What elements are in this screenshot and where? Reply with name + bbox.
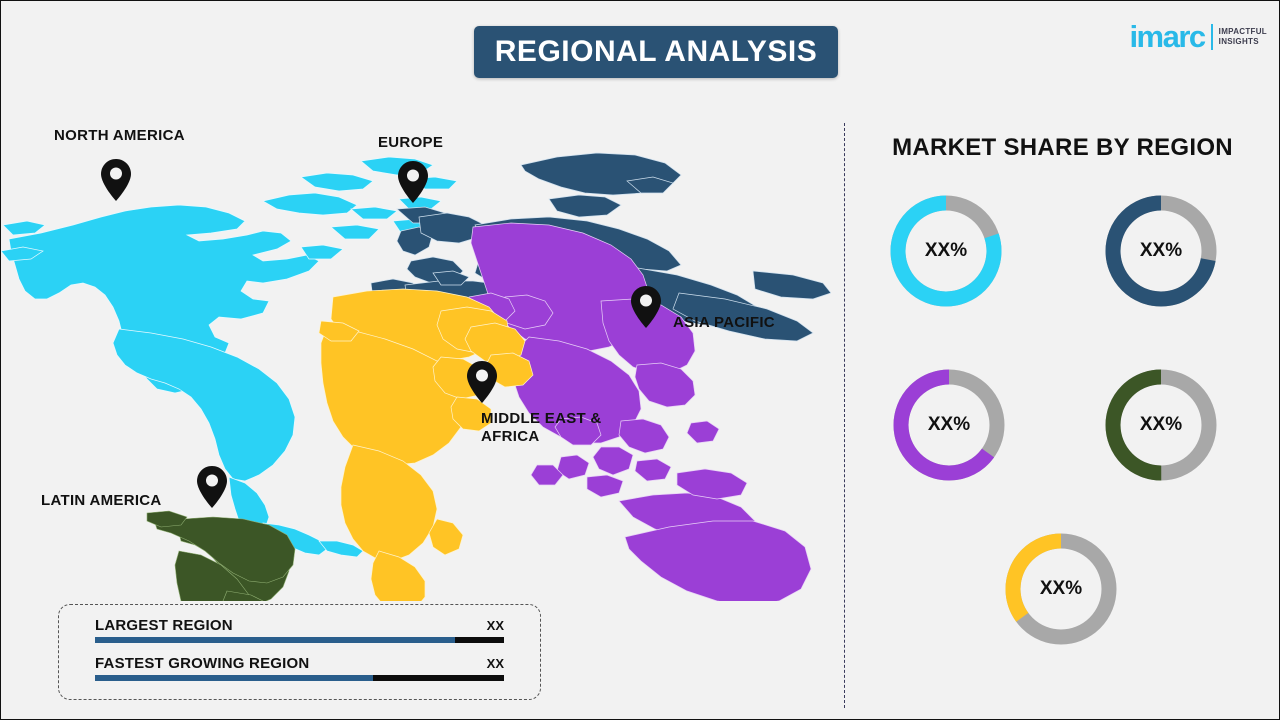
infographic-canvas: REGIONAL ANALYSIS imarc IMPACTFUL INSIGH… (0, 0, 1280, 720)
map-label-middle-east-africa: MIDDLE EAST & AFRICA (481, 410, 602, 445)
donut-chart-latin-america: XX% (1101, 365, 1221, 485)
legend-bar-track-largest-region (95, 637, 504, 643)
donut-chart-north-america: XX% (886, 191, 1006, 311)
legend-bar-fill-fastest-growing-region (95, 675, 373, 681)
map-pin-middle-east-africa-icon[interactable] (467, 361, 497, 403)
legend-row-fastest-growing-region: FASTEST GROWING REGION XX (95, 655, 504, 681)
page-title: REGIONAL ANALYSIS (495, 35, 817, 69)
panel-divider (844, 123, 845, 708)
map-label-asia-pacific: ASIA PACIFIC (673, 314, 775, 332)
map-pin-latin-america-icon[interactable] (197, 466, 227, 508)
donut-svg-asia-pacific (889, 365, 1009, 485)
world-map (1, 121, 831, 601)
map-pin-asia-pacific-icon[interactable] (631, 286, 661, 328)
imarc-logo: imarc IMPACTFUL INSIGHTS (1129, 21, 1267, 52)
map-label-europe: EUROPE (378, 134, 443, 152)
legend-value-largest-region: XX (487, 618, 504, 633)
legend-row-largest-region: LARGEST REGION XX (95, 617, 504, 643)
legend-label-fastest-growing-region: FASTEST GROWING REGION (95, 655, 309, 672)
donut-chart-middle-east-africa: XX% (1001, 529, 1121, 649)
map-pin-north-america-icon[interactable] (101, 159, 131, 201)
charts-panel-heading: MARKET SHARE BY REGION (844, 134, 1280, 162)
map-label-north-america: NORTH AMERICA (54, 127, 185, 145)
map-pin-europe-icon[interactable] (398, 161, 428, 203)
logo-tagline: IMPACTFUL INSIGHTS (1219, 27, 1267, 47)
donut-chart-asia-pacific: XX% (889, 365, 1009, 485)
donut-chart-europe: XX% (1101, 191, 1221, 311)
legend-bar-fill-largest-region (95, 637, 455, 643)
legend-value-fastest-growing-region: XX (487, 656, 504, 671)
legend-label-largest-region: LARGEST REGION (95, 617, 233, 634)
donut-svg-north-america (886, 191, 1006, 311)
donut-svg-middle-east-africa (1001, 529, 1121, 649)
donut-svg-latin-america (1101, 365, 1221, 485)
map-label-latin-america: LATIN AMERICA (41, 492, 162, 510)
logo-divider (1211, 24, 1213, 50)
legend-bar-track-fastest-growing-region (95, 675, 504, 681)
region-summary-box: LARGEST REGION XX FASTEST GROWING REGION… (58, 604, 541, 700)
donut-svg-europe (1101, 191, 1221, 311)
logo-wordmark: imarc (1129, 21, 1204, 52)
title-banner: REGIONAL ANALYSIS (474, 26, 838, 78)
